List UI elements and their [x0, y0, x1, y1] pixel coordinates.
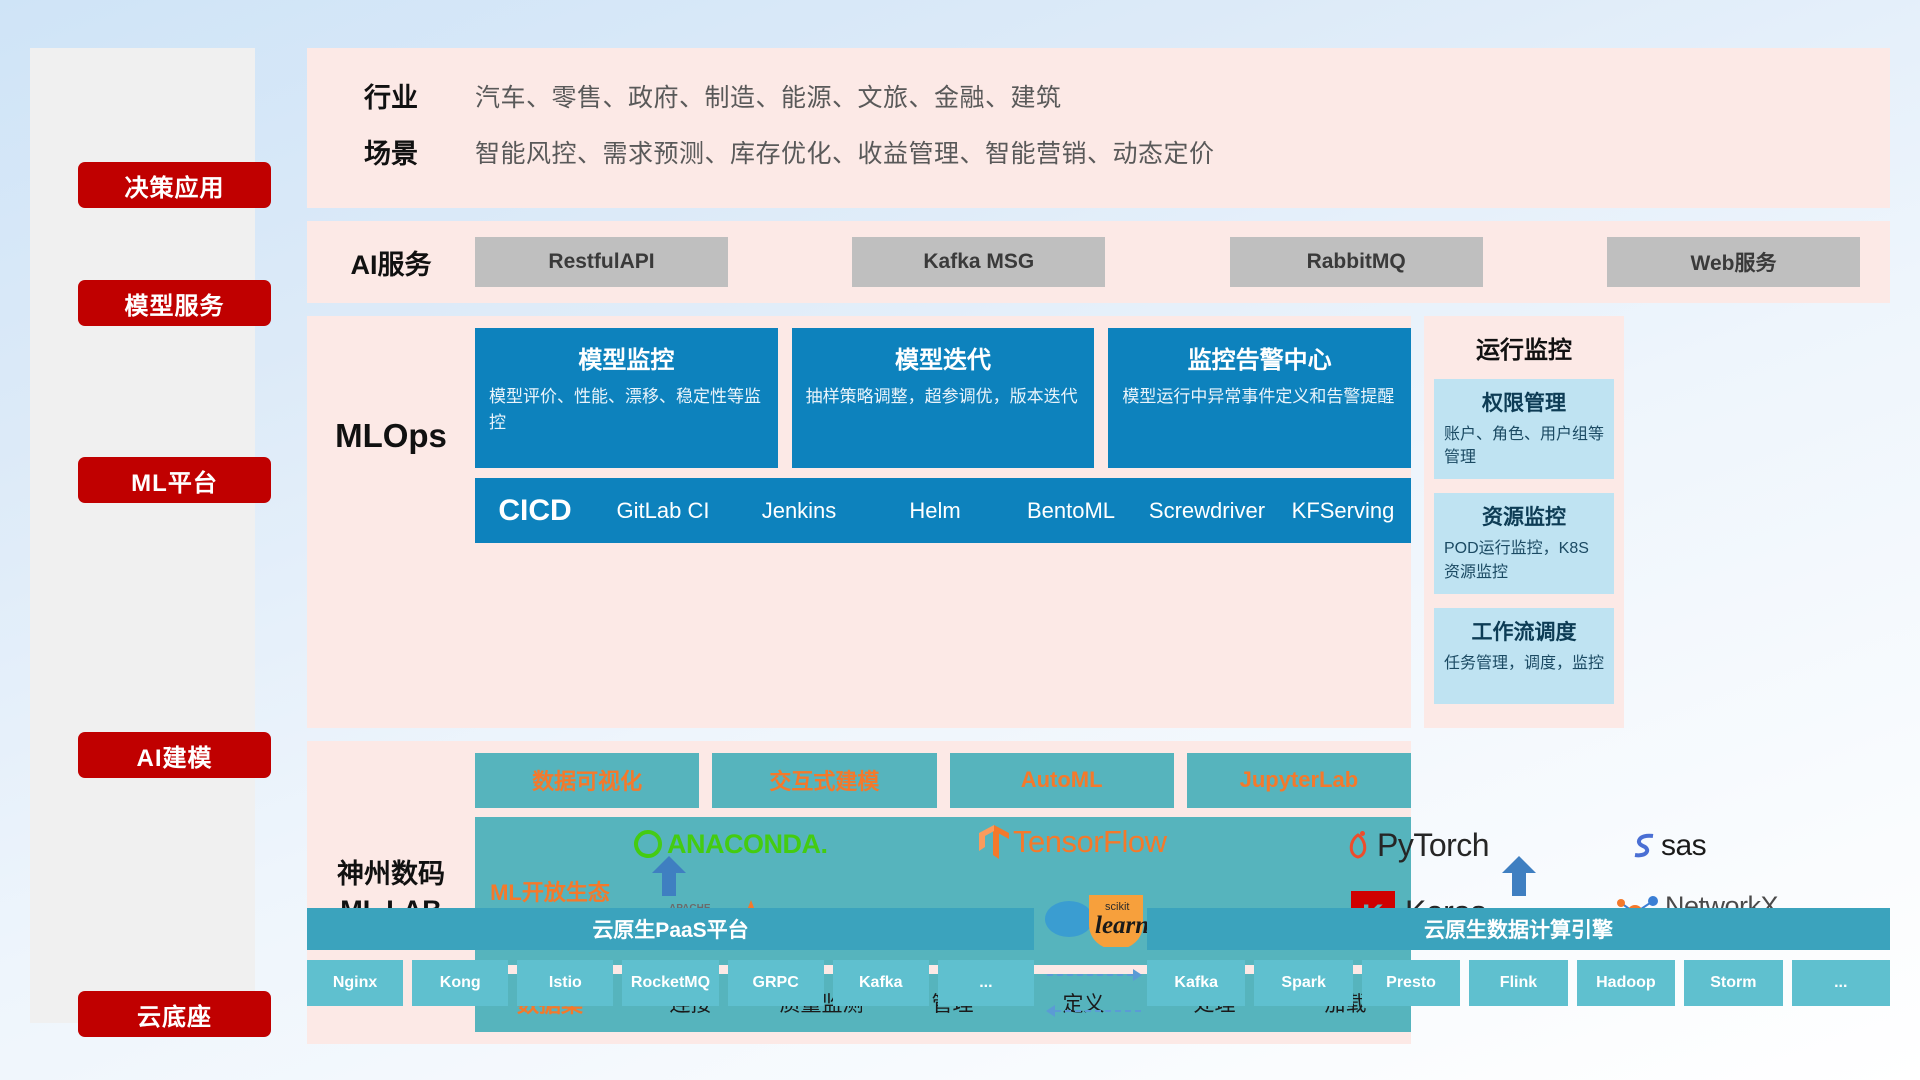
cloud-paas-group: 云原生PaaS平台 Nginx Kong Istio RocketMQ GRPC… [307, 908, 1034, 1006]
monitoring-card-desc: POD运行监控，K8S资源监控 [1444, 537, 1604, 583]
pytorch-icon [1343, 829, 1373, 861]
mlops-card-desc: 模型评价、性能、漂移、稳定性等监控 [489, 384, 764, 435]
cloud-paas-chip-list: Nginx Kong Istio RocketMQ GRPC Kafka ... [307, 960, 1034, 1006]
monitoring-card-title: 资源监控 [1444, 501, 1604, 531]
monitoring-card-title: 权限管理 [1444, 387, 1604, 417]
industry-label: 行业 [307, 70, 475, 126]
ai-service-band: AI服务 RestfulAPI Kafka MSG RabbitMQ Web服务 [307, 221, 1890, 303]
stage-chip-ai-modeling[interactable]: AI建模 [78, 732, 271, 778]
cicd-item-bentoml[interactable]: BentoML [1003, 494, 1139, 528]
cicd-item-jenkins[interactable]: Jenkins [731, 494, 867, 528]
mlops-card-desc: 模型运行中异常事件定义和告警提醒 [1122, 384, 1397, 410]
cloud-base-section: 云原生PaaS平台 Nginx Kong Istio RocketMQ GRPC… [307, 888, 1890, 1028]
sas-icon [1629, 831, 1663, 861]
monitoring-card-desc: 任务管理，调度，监控 [1444, 652, 1604, 675]
tool-box-automl[interactable]: AutoML [950, 753, 1174, 808]
cloud-chip-kong[interactable]: Kong [412, 960, 508, 1006]
mlops-band: MLOps 模型监控 模型评价、性能、漂移、稳定性等监控 模型迭代 抽样策略调整… [307, 316, 1411, 728]
dashed-connector-bottom [1055, 1010, 1141, 1012]
cicd-item-gitlab-ci[interactable]: GitLab CI [595, 494, 731, 528]
stage-rail: 决策应用 模型服务 ML平台 AI建模 云底座 [30, 48, 255, 1023]
cloud-chip-kafka[interactable]: Kafka [833, 960, 929, 1006]
anaconda-wordmark: ANACONDA. [667, 829, 828, 860]
decision-app-labels: 行业 场景 [307, 70, 475, 182]
stage-chip-cloud-base[interactable]: 云底座 [78, 991, 271, 1037]
dashed-arrow-right [1133, 969, 1142, 981]
stage-chip-decision-app[interactable]: 决策应用 [78, 162, 271, 208]
cicd-item-list: GitLab CI Jenkins Helm BentoML Screwdriv… [595, 494, 1411, 528]
tool-box-jupyterlab[interactable]: JupyterLab [1187, 753, 1411, 808]
stage-chip-ml-platform[interactable]: ML平台 [78, 457, 271, 503]
monitoring-card-title: 工作流调度 [1444, 616, 1604, 646]
cloud-chip-hadoop[interactable]: Hadoop [1577, 960, 1675, 1006]
monitoring-card-permission[interactable]: 权限管理 账户、角色、用户组等管理 [1434, 379, 1614, 479]
service-box-restfulapi[interactable]: RestfulAPI [475, 237, 728, 287]
cloud-chip-presto[interactable]: Presto [1362, 960, 1460, 1006]
ai-service-label: AI服务 [307, 243, 475, 282]
monitoring-card-workflow[interactable]: 工作流调度 任务管理，调度，监控 [1434, 608, 1614, 704]
sas-logo: sas [1629, 829, 1706, 863]
cloud-chip-more-left[interactable]: ... [938, 960, 1034, 1006]
scenario-label: 场景 [307, 126, 475, 182]
monitoring-title: 运行监控 [1434, 330, 1614, 365]
monitoring-column: 运行监控 权限管理 账户、角色、用户组等管理 资源监控 POD运行监控，K8S资… [1424, 316, 1624, 728]
dashed-connector-top [1047, 974, 1133, 976]
mlops-card-model-iteration[interactable]: 模型迭代 抽样策略调整，超参调优，版本迭代 [792, 328, 1095, 468]
cloud-paas-header[interactable]: 云原生PaaS平台 [307, 908, 1034, 950]
monitoring-card-resource[interactable]: 资源监控 POD运行监控，K8S资源监控 [1434, 493, 1614, 593]
arrow-up-data-engine [1502, 856, 1536, 896]
mlops-label: MLOps [307, 417, 475, 455]
cloud-chip-rocketmq[interactable]: RocketMQ [622, 960, 718, 1006]
decision-app-values: 汽车、零售、政府、制造、能源、文旅、金融、建筑 智能风控、需求预测、库存优化、收… [475, 70, 1215, 182]
cloud-chip-storm[interactable]: Storm [1684, 960, 1782, 1006]
cloud-chip-grpc[interactable]: GRPC [728, 960, 824, 1006]
ai-modeling-label-line1: 神州数码 [307, 856, 475, 892]
cloud-chip-flink[interactable]: Flink [1469, 960, 1567, 1006]
cloud-chip-istio[interactable]: Istio [517, 960, 613, 1006]
decision-app-band: 行业 场景 汽车、零售、政府、制造、能源、文旅、金融、建筑 智能风控、需求预测、… [307, 48, 1890, 208]
mlops-card-title: 模型迭代 [806, 340, 1081, 375]
cloud-data-engine-chip-list: Kafka Spark Presto Flink Hadoop Storm ..… [1147, 960, 1890, 1006]
cloud-chip-nginx[interactable]: Nginx [307, 960, 403, 1006]
cicd-item-screwdriver[interactable]: Screwdriver [1139, 494, 1275, 528]
cloud-chip-more-right[interactable]: ... [1792, 960, 1890, 1006]
tool-box-interactive-modeling[interactable]: 交互式建模 [712, 753, 936, 808]
tensorflow-logo: TensorFlow [977, 823, 1167, 861]
tensorflow-icon [977, 823, 1011, 861]
mlops-card-desc: 抽样策略调整，超参调优，版本迭代 [806, 384, 1081, 410]
stage-chip-model-service[interactable]: 模型服务 [78, 280, 271, 326]
anaconda-icon [633, 829, 663, 859]
dashed-arrow-left [1046, 1005, 1055, 1017]
scenario-value: 智能风控、需求预测、库存优化、收益管理、智能营销、动态定价 [475, 126, 1215, 182]
cloud-chip-spark[interactable]: Spark [1254, 960, 1352, 1006]
mlops-card-alert-center[interactable]: 监控告警中心 模型运行中异常事件定义和告警提醒 [1108, 328, 1411, 468]
cicd-bar: CICD GitLab CI Jenkins Helm BentoML Scre… [475, 478, 1411, 543]
mlops-card-title: 模型监控 [489, 340, 764, 375]
mlops-row: MLOps 模型监控 模型评价、性能、漂移、稳定性等监控 模型迭代 抽样策略调整… [307, 316, 1890, 728]
mlops-card-title: 监控告警中心 [1122, 340, 1397, 375]
sas-wordmark: sas [1661, 829, 1706, 863]
architecture-diagram: 决策应用 模型服务 ML平台 AI建模 云底座 行业 场景 汽车、零售、政府、制… [0, 0, 1920, 1080]
cicd-item-kfserving[interactable]: KFServing [1275, 494, 1411, 528]
pytorch-logo: PyTorch [1343, 827, 1489, 864]
ai-service-list: RestfulAPI Kafka MSG RabbitMQ Web服务 [475, 237, 1890, 287]
service-box-web[interactable]: Web服务 [1607, 237, 1860, 287]
arrow-up-paas [652, 856, 686, 896]
tensorflow-wordmark: TensorFlow [1013, 824, 1167, 860]
modeling-tool-list: 数据可视化 交互式建模 AutoML JupyterLab [475, 753, 1411, 808]
cicd-item-helm[interactable]: Helm [867, 494, 1003, 528]
cloud-data-engine-header[interactable]: 云原生数据计算引擎 [1147, 908, 1890, 950]
service-box-kafka-msg[interactable]: Kafka MSG [852, 237, 1105, 287]
mlops-card-model-monitoring[interactable]: 模型监控 模型评价、性能、漂移、稳定性等监控 [475, 328, 778, 468]
cloud-chip-kafka-right[interactable]: Kafka [1147, 960, 1245, 1006]
service-box-rabbitmq[interactable]: RabbitMQ [1230, 237, 1483, 287]
cicd-title: CICD [475, 494, 595, 528]
mlops-card-list: 模型监控 模型评价、性能、漂移、稳定性等监控 模型迭代 抽样策略调整，超参调优，… [475, 328, 1411, 468]
industry-value: 汽车、零售、政府、制造、能源、文旅、金融、建筑 [475, 70, 1215, 126]
cloud-data-engine-group: 云原生数据计算引擎 Kafka Spark Presto Flink Hadoo… [1147, 908, 1890, 1006]
monitoring-card-desc: 账户、角色、用户组等管理 [1444, 423, 1604, 469]
tool-box-data-visualization[interactable]: 数据可视化 [475, 753, 699, 808]
pytorch-wordmark: PyTorch [1377, 827, 1489, 864]
